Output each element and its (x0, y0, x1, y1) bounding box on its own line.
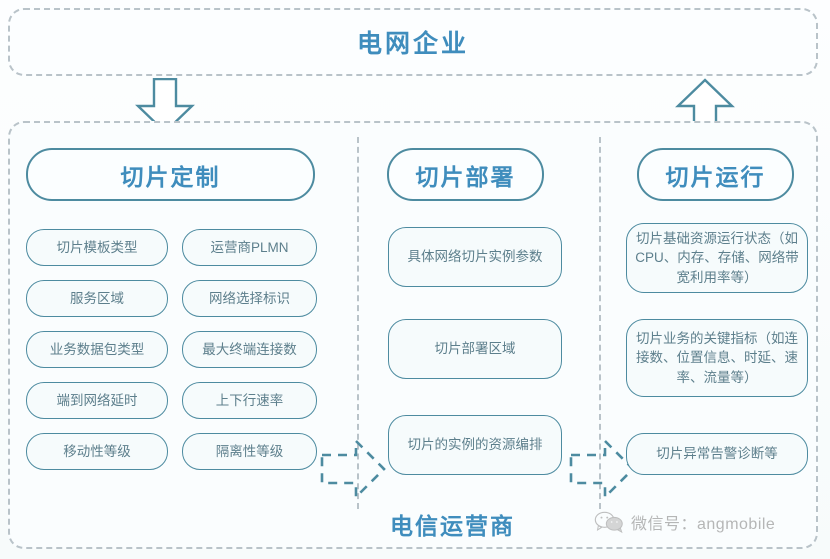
power-grid-enterprise-title: 电网企业 (357, 24, 469, 60)
item-network-selection-id[interactable]: 网络选择标识 (182, 280, 317, 317)
power-grid-enterprise-band: 电网企业 (8, 8, 818, 76)
item-slice-service-kpi[interactable]: 切片业务的关键指标（如连接数、位置信息、时延、速率、流量等） (626, 319, 808, 397)
wechat-logo-icon (594, 510, 624, 534)
item-network-slice-instance-params[interactable]: 具体网络切片实例参数 (388, 227, 562, 287)
telecom-operator-band: 切片定制 切片模板类型 运营商PLMN 服务区域 网络选择标识 业务数据包类型 … (8, 121, 818, 549)
column-header-slice-operation: 切片运行 (637, 148, 794, 201)
item-isolation-level[interactable]: 隔离性等级 (182, 433, 317, 470)
item-service-area[interactable]: 服务区域 (26, 280, 168, 317)
column-slice-deployment: 切片部署 具体网络切片实例参数 切片部署区域 切片的实例的资源编排 (357, 123, 599, 547)
item-service-data-packet-type[interactable]: 业务数据包类型 (26, 331, 168, 368)
item-uplink-downlink-rate[interactable]: 上下行速率 (182, 382, 317, 419)
item-operator-plmn[interactable]: 运营商PLMN (182, 229, 317, 266)
column-header-slice-deployment: 切片部署 (387, 148, 544, 201)
item-slice-fault-alarm-diagnosis[interactable]: 切片异常告警诊断等 (626, 433, 808, 475)
column-slice-customization: 切片定制 切片模板类型 运营商PLMN 服务区域 网络选择标识 业务数据包类型 … (10, 123, 357, 547)
telecom-operator-title: 电信运营商 (390, 507, 515, 541)
wechat-watermark: 微信号：angmobile (594, 510, 775, 534)
item-max-terminal-connections[interactable]: 最大终端连接数 (182, 331, 317, 368)
wechat-watermark-text: 微信号：angmobile (631, 510, 775, 534)
item-slice-resource-status[interactable]: 切片基础资源运行状态（如CPU、内存、存储、网络带宽利用率等） (626, 223, 808, 293)
column-slice-operation: 切片运行 切片基础资源运行状态（如CPU、内存、存储、网络带宽利用率等） 切片业… (599, 123, 820, 547)
item-slice-deployment-area[interactable]: 切片部署区域 (388, 319, 562, 379)
item-slice-instance-resource-orchestration[interactable]: 切片的实例的资源编排 (388, 415, 562, 475)
item-end-to-network-latency[interactable]: 端到网络延时 (26, 382, 168, 419)
item-slice-template-type[interactable]: 切片模板类型 (26, 229, 168, 266)
diagram-canvas: 电网企业 切片定制 切片模板类型 运营商PLMN 服务区域 网络选择标识 业务数… (0, 0, 830, 559)
item-mobility-level[interactable]: 移动性等级 (26, 433, 168, 470)
column-header-slice-customization: 切片定制 (26, 148, 315, 201)
